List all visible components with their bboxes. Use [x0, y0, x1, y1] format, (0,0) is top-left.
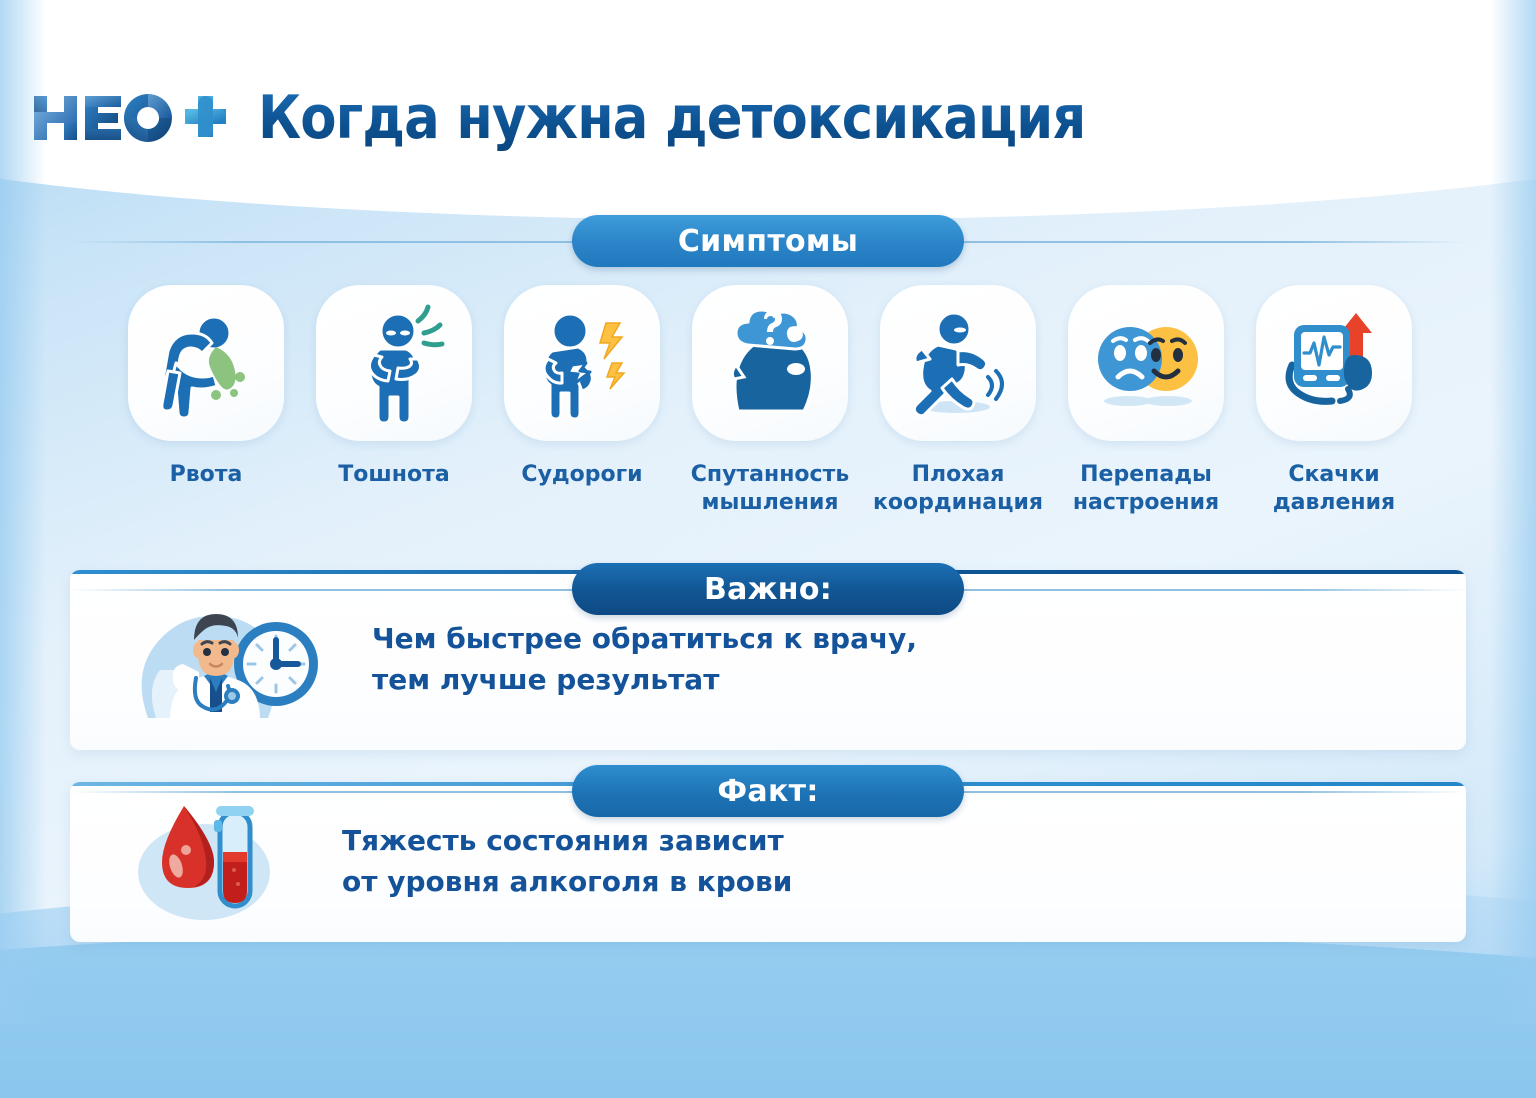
symptom-item[interactable]: Тошнота: [308, 285, 480, 535]
fact-text-line2: от уровня алкоголя в крови: [342, 862, 792, 903]
symptom-tile: [504, 285, 660, 441]
symptom-item[interactable]: Перепады настроения: [1060, 285, 1232, 535]
symptom-label: Перепады настроения: [1060, 461, 1232, 516]
symptom-tile: [880, 285, 1036, 441]
fact-section-header: Факт:: [70, 765, 1466, 817]
important-text-line2: тем лучше результат: [372, 660, 917, 701]
symptom-label: Рвота: [170, 461, 243, 489]
symptoms-section-header: Симптомы: [70, 215, 1466, 267]
symptom-item[interactable]: Судороги: [496, 285, 668, 535]
symptom-tile: [128, 285, 284, 441]
blood-pressure-monitor-icon: [1274, 303, 1394, 423]
symptoms-grid: Рвота Тошнота: [120, 285, 1420, 535]
important-text-line1: Чем быстрее обратиться к врачу,: [372, 619, 917, 660]
symptom-label: Скачки давления: [1248, 461, 1420, 516]
fact-card-text: Тяжесть состояния зависит от уровня алко…: [342, 821, 792, 902]
symptom-tile: [1068, 285, 1224, 441]
nausea-person-icon: [334, 303, 454, 423]
important-card-text: Чем быстрее обратиться к врачу, тем лучш…: [372, 619, 917, 700]
page-title: Когда нужна детоксикация: [258, 83, 1085, 153]
symptom-label-line1: Плохая: [912, 462, 1005, 487]
symptom-label: Спутанность мышления: [684, 461, 856, 516]
symptom-item[interactable]: Спутанность мышления: [684, 285, 856, 535]
header: Когда нужна детоксикация: [0, 76, 1536, 160]
symptom-label-line2: настроения: [1073, 490, 1219, 515]
symptom-label-line1: Спутанность: [691, 462, 850, 487]
symptom-label: Плохая координация: [872, 461, 1044, 516]
background-wave-bottom-dark: [0, 928, 1536, 1098]
neo-plus-logo-icon: [30, 88, 230, 148]
symptom-label-line1: Перепады: [1080, 462, 1212, 487]
symptom-label-line2: координация: [873, 490, 1043, 515]
cramps-person-icon: [522, 303, 642, 423]
symptom-label-line1: Скачки: [1288, 462, 1379, 487]
symptom-tile: [692, 285, 848, 441]
important-section-header: Важно:: [70, 563, 1466, 615]
poor-coordination-person-icon: [898, 303, 1018, 423]
badge-symptoms: Симптомы: [572, 215, 964, 267]
symptom-label-line2: давления: [1273, 490, 1395, 515]
badge-fact: Факт:: [572, 765, 964, 817]
symptom-item[interactable]: Рвота: [120, 285, 292, 535]
vomiting-person-icon: [146, 303, 266, 423]
confused-head-thought-icon: [710, 303, 830, 423]
symptom-tile: [1256, 285, 1412, 441]
badge-important: Важно:: [572, 563, 964, 615]
fact-text-line1: Тяжесть состояния зависит: [342, 821, 792, 862]
symptom-item[interactable]: Скачки давления: [1248, 285, 1420, 535]
symptom-tile: [316, 285, 472, 441]
symptom-label-line2: мышления: [701, 490, 838, 515]
symptom-item[interactable]: Плохая координация: [872, 285, 1044, 535]
mood-swings-faces-icon: [1086, 303, 1206, 423]
symptom-label: Тошнота: [338, 461, 449, 489]
symptom-label: Судороги: [521, 461, 642, 489]
